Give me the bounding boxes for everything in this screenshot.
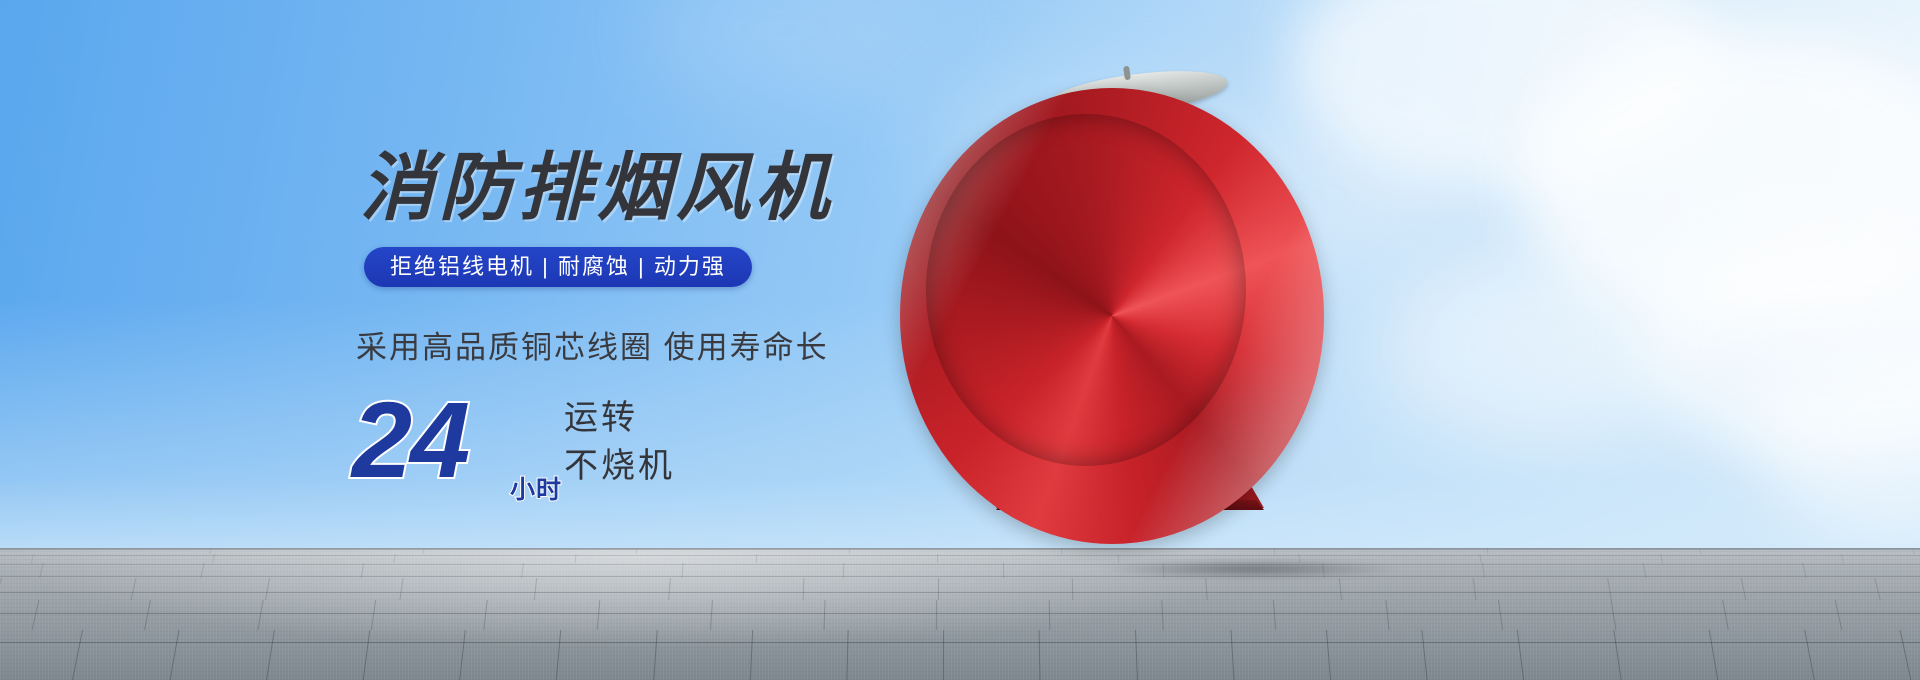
hero-claim: 24 小时 运转 不烧机 [352, 392, 852, 522]
hero-subtitle: 采用高品质铜芯线圈 使用寿命长 [356, 322, 829, 367]
product-shadow [1040, 556, 1460, 582]
feature-badge: 拒绝铝线电机 | 耐腐蚀 | 动力强 [364, 247, 752, 287]
claim-unit: 小时 [510, 470, 562, 506]
claim-number: 24 [352, 386, 468, 494]
hero-copy: 消防排烟风机 拒绝铝线电机 | 耐腐蚀 | 动力强 采用高品质铜芯线圈 使用寿命… [0, 0, 900, 680]
claim-line-2: 不烧机 [564, 442, 675, 490]
hero-banner: 消防排烟风机 拒绝铝线电机 | 耐腐蚀 | 动力强 采用高品质铜芯线圈 使用寿命… [0, 0, 1920, 680]
cloud-icon [1380, 260, 1680, 440]
claim-text: 运转 不烧机 [564, 394, 675, 491]
page-title: 消防排烟风机 [360, 128, 834, 235]
fan-ring-inner-shadow [926, 114, 1246, 466]
pavement-joint [1003, 563, 1004, 578]
pavement-joint [937, 554, 938, 563]
claim-line-1: 运转 [564, 394, 675, 442]
pavement-joint [938, 578, 939, 600]
